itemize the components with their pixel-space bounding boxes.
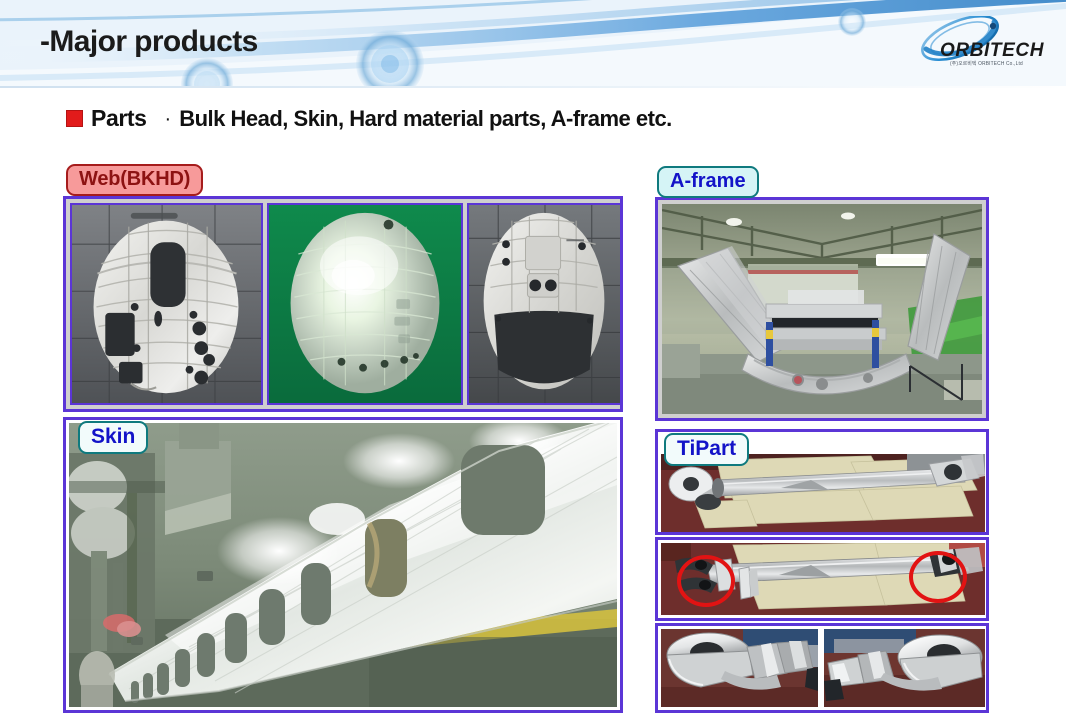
photo-a-frame-jig-image: [662, 204, 982, 414]
bullet-description: Bulk Head, Skin, Hard material parts, A-…: [179, 106, 672, 132]
photo-a-frame-jig: [662, 204, 982, 414]
photo-skin-fuselage: [69, 423, 617, 707]
photo-bulkhead-3: [467, 203, 622, 405]
photo-tipart-link-2: [661, 543, 985, 615]
logo-subtext: (주)오르비텍 ORBITECH Co.,Ltd: [950, 60, 1023, 67]
page-title: -Major products: [40, 25, 258, 59]
annotation-circle-left: [677, 555, 735, 607]
photo-tipart-fitting-right: [824, 629, 985, 707]
parts-bullet-row: Parts · Bulk Head, Skin, Hard material p…: [66, 105, 672, 132]
header-divider: [0, 86, 1066, 88]
section-label-web-bkhd: Web(BKHD): [66, 164, 203, 196]
bullet-label: Parts: [91, 105, 147, 132]
section-label-tipart: TiPart: [664, 433, 749, 466]
photo-bulkhead-1-image: [72, 205, 261, 403]
photo-tipart-fitting-left-image: [661, 629, 818, 707]
section-label-skin: Skin: [78, 421, 148, 454]
orbitech-logo: ORBITECH (주)오르비텍 ORBITECH Co.,Ltd: [902, 16, 1052, 72]
slide-header: -Major products ORBITECH (주)오르비텍 ORBITEC…: [0, 0, 1066, 88]
photo-bulkhead-1: [70, 203, 263, 405]
photo-bulkhead-2: [267, 203, 463, 405]
bullet-separator-icon: ·: [165, 109, 172, 129]
annotation-circle-right: [909, 551, 967, 603]
photo-bulkhead-3-image: [469, 205, 620, 403]
photo-tipart-fitting-left: [661, 629, 818, 707]
section-label-a-frame: A-frame: [657, 166, 759, 198]
photo-skin-fuselage-image: [69, 423, 617, 707]
logo-wordmark: ORBITECH: [940, 40, 1044, 62]
panel-skin: [63, 417, 623, 713]
panel-web-bkhd: [63, 196, 623, 412]
photo-bulkhead-2-image: [269, 205, 461, 403]
photo-tipart-fitting-right-image: [824, 629, 985, 707]
panel-tipart-3: [655, 623, 989, 713]
panel-a-frame: [655, 197, 989, 421]
panel-tipart-2: [655, 537, 989, 621]
red-square-bullet-icon: [66, 110, 83, 127]
slide-canvas: -Major products ORBITECH (주)오르비텍 ORBITEC…: [0, 0, 1066, 724]
